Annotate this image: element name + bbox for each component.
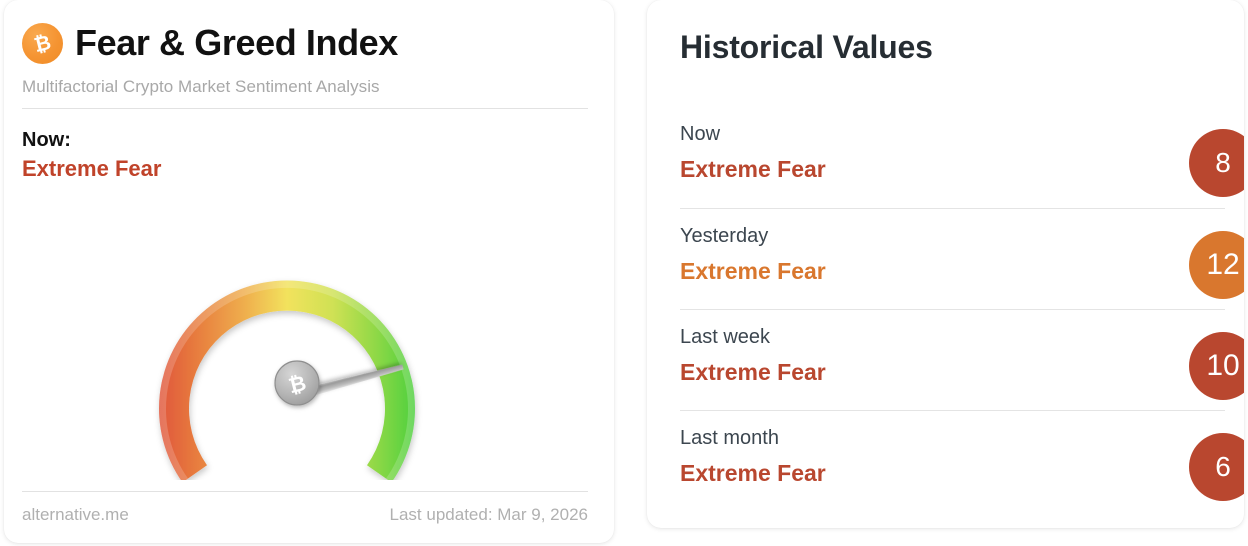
gauge-chart: ₿ 8: [22, 180, 588, 480]
history-classification: Extreme Fear: [680, 457, 1225, 489]
page-subtitle: Multifactorial Crypto Market Sentiment A…: [22, 77, 588, 97]
history-period-label: Now: [680, 120, 1225, 148]
historical-values-list: NowExtreme Fear8YesterdayExtreme Fear12L…: [680, 107, 1225, 511]
history-classification: Extreme Fear: [680, 153, 1225, 185]
history-value-badge: 8: [1189, 129, 1244, 197]
svg-text:₿: ₿: [32, 31, 53, 56]
history-row: NowExtreme Fear8: [680, 107, 1225, 208]
history-row: YesterdayExtreme Fear12: [680, 208, 1225, 309]
page-root: ₿ Fear & Greed Index Multifactorial Cryp…: [0, 0, 1248, 546]
footer-divider: [22, 491, 588, 492]
current-value-block: Now: Extreme Fear: [22, 128, 161, 184]
history-period-label: Last week: [680, 323, 1225, 351]
history-value-badge: 10: [1189, 332, 1244, 400]
source-link[interactable]: alternative.me: [22, 505, 129, 525]
bitcoin-icon: ₿: [22, 23, 63, 64]
gauge-card-footer: alternative.me Last updated: Mar 9, 2026: [22, 491, 588, 525]
history-value-badge: 12: [1189, 231, 1244, 299]
history-row: Last weekExtreme Fear10: [680, 309, 1225, 410]
now-label: Now:: [22, 128, 161, 153]
historical-values-card: Historical Values NowExtreme Fear8Yester…: [647, 0, 1244, 528]
history-value-badge: 6: [1189, 433, 1244, 501]
gauge-card-header: ₿ Fear & Greed Index Multifactorial Cryp…: [22, 18, 588, 109]
history-period-label: Last month: [680, 424, 1225, 452]
history-period-label: Yesterday: [680, 222, 1225, 250]
fear-greed-gauge-card: ₿ Fear & Greed Index Multifactorial Cryp…: [4, 0, 614, 543]
title-row: ₿ Fear & Greed Index: [22, 18, 588, 68]
header-divider: [22, 108, 588, 109]
page-title: Fear & Greed Index: [75, 25, 398, 61]
last-updated-label: Last updated: Mar 9, 2026: [390, 505, 588, 525]
history-classification: Extreme Fear: [680, 356, 1225, 388]
history-classification: Extreme Fear: [680, 255, 1225, 287]
historical-values-title: Historical Values: [680, 29, 933, 66]
history-row: Last monthExtreme Fear6: [680, 410, 1225, 511]
